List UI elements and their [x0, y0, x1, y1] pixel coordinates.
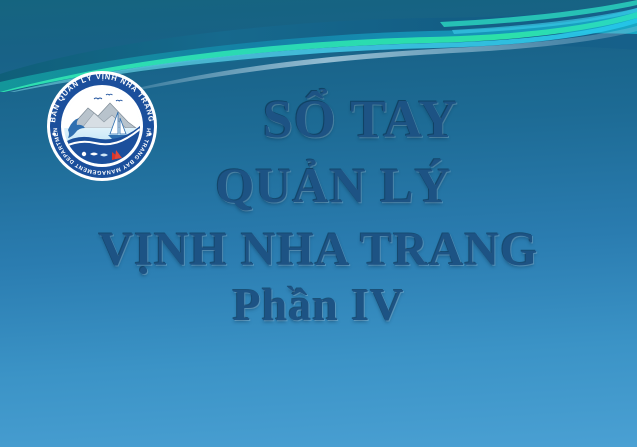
slide-title-block: SỔ TAY QUẢN LÝ VỊNH NHA TRANG Phần IV — [0, 92, 637, 328]
swoosh-pale-highlight — [120, 26, 637, 92]
title-line-1: SỔ TAY — [0, 92, 637, 146]
title-line-2: QUẢN LÝ — [0, 160, 637, 210]
title-line-4: Phần IV — [0, 282, 637, 328]
presentation-slide: BAN QUẢN LÝ VỊNH NHA TRANG NHA TRANG BAY… — [0, 0, 637, 447]
swoosh-strand-lower — [452, 8, 637, 34]
title-line-3: VỊNH NHA TRANG — [0, 226, 637, 274]
swoosh-strand-upper — [440, 0, 637, 27]
